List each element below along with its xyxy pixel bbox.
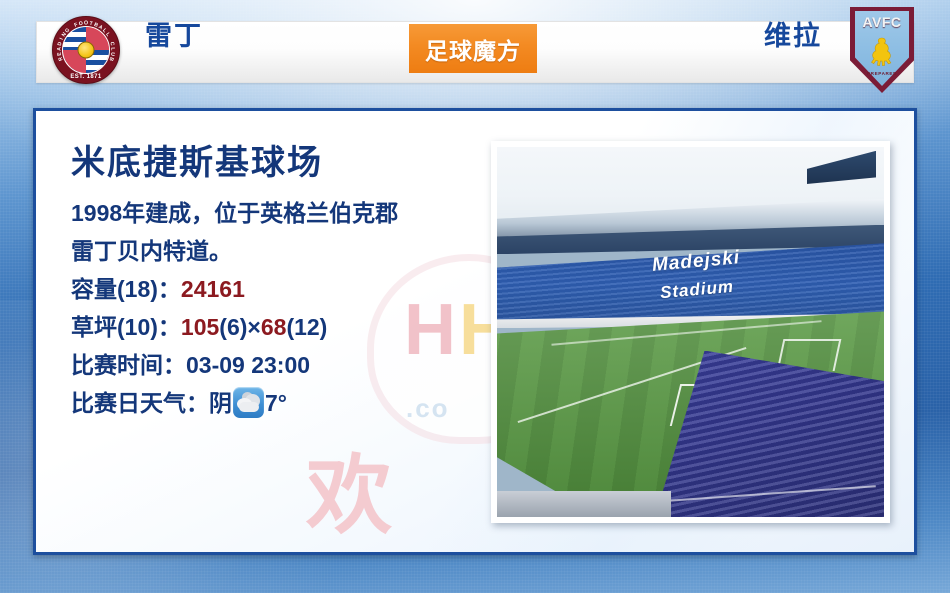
villa-crest-initials: AVFC (850, 14, 914, 30)
stadium-title: 米底捷斯基球场 (71, 140, 398, 186)
watermark-domain: .co (406, 393, 450, 424)
reading-crest-ball-icon (78, 42, 95, 59)
site-logo-text: 足球魔方 (425, 32, 521, 66)
stadium-pitch-line: 草坪(10)：105(6)×68(12) (71, 308, 398, 346)
watermark-big-char: 欢 (306, 453, 392, 539)
villa-lion-icon (867, 37, 897, 69)
stadium-photo-frame[interactable]: Madejski Stadium (491, 141, 890, 523)
home-team-name: 雷丁 (145, 21, 203, 51)
pitch-label: 草坪(10)： (71, 314, 181, 340)
cloudy-weather-icon (233, 387, 264, 418)
match-weather-line: 比赛日天气：阴7° (71, 384, 398, 422)
capacity-label: 容量(18)： (71, 276, 181, 302)
weather-condition: 阴 (209, 390, 232, 416)
stadium-info-panel: HH .co 欢 米底捷斯基球场 1998年建成，位于英格兰伯克郡 雷丁贝内特道… (33, 108, 917, 555)
match-time-line: 比赛时间：03-09 23:00 (71, 346, 398, 384)
stadium-capacity-line: 容量(18)：24161 (71, 270, 398, 308)
stadium-photo: Madejski Stadium (497, 147, 884, 517)
pitch-width-value: 68 (261, 314, 287, 340)
stadium-info-page: READING FOOTBALL CLUB EST. 1871 雷丁 足球魔方 … (0, 0, 950, 593)
weather-label: 比赛日天气： (71, 390, 209, 416)
stadium-info-text: 米底捷斯基球场 1998年建成，位于英格兰伯克郡 雷丁贝内特道。 容量(18)：… (71, 140, 398, 422)
site-logo[interactable]: 足球魔方 (409, 24, 537, 73)
pitch-width-rank: (12) (286, 314, 327, 340)
away-team-name: 维拉 (764, 21, 822, 51)
pitch-length-value: 105 (181, 314, 219, 340)
weather-temperature: 7° (265, 390, 287, 416)
stadium-description-line-2: 雷丁贝内特道。 (71, 232, 398, 270)
aston-villa-crest-icon: AVFC PREPARED (850, 7, 914, 93)
match-time-label: 比赛时间： (71, 352, 186, 378)
capacity-value: 24161 (181, 276, 245, 302)
photo-foreground-strip (497, 491, 671, 517)
pitch-times-symbol: × (247, 314, 260, 340)
reading-crest-inner (62, 26, 110, 74)
match-time-value: 03-09 23:00 (186, 352, 310, 378)
reading-fc-crest-icon: READING FOOTBALL CLUB EST. 1871 (52, 16, 120, 84)
watermark-letter-1: H (404, 290, 459, 370)
stadium-description-line-1: 1998年建成，位于英格兰伯克郡 (71, 194, 398, 232)
reading-crest-est-text: EST. 1871 (53, 74, 119, 80)
pitch-length-rank: (6) (219, 314, 247, 340)
villa-crest-motto: PREPARED (850, 71, 914, 76)
